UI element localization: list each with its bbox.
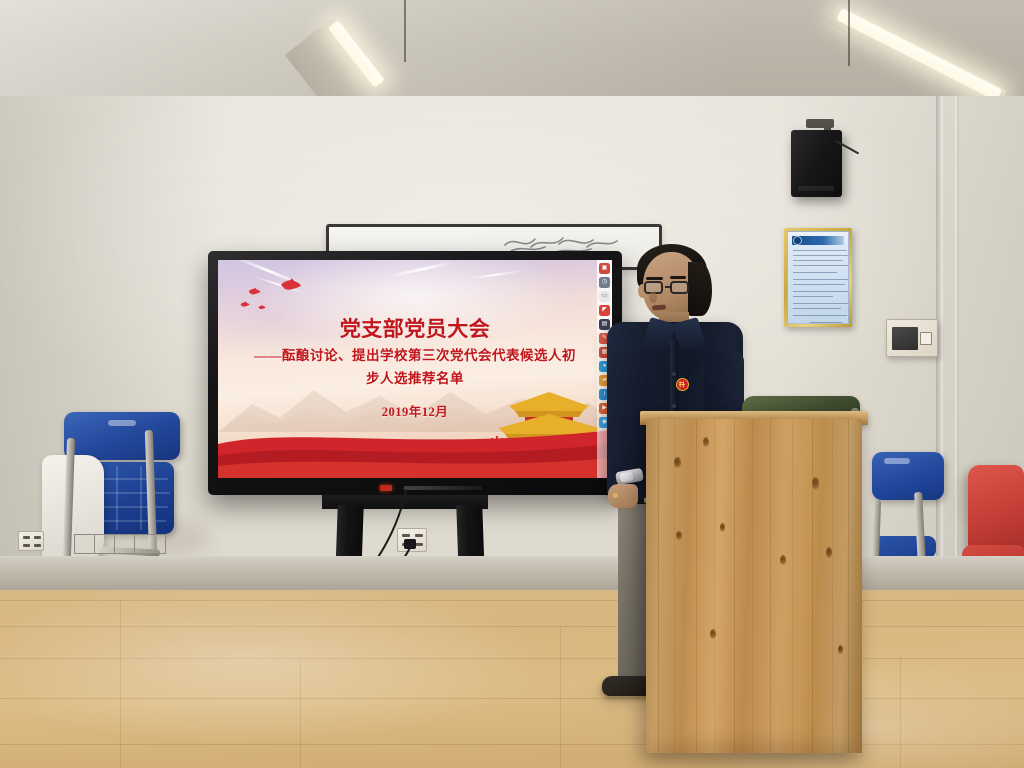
wall-baseboard: [0, 556, 1024, 594]
wall-notice-board: [784, 228, 852, 327]
presenter-eyebrow: [670, 276, 686, 279]
breaker-switch[interactable]: [920, 332, 932, 345]
slide-subtitle-line1: ——酝酿讨论、提出学校第三次党代会代表候选人初: [218, 344, 612, 364]
party-emblem-pin-icon: [676, 378, 689, 391]
camera-icon[interactable]: ▣: [599, 263, 610, 274]
slide-dove-icon: [258, 304, 266, 310]
presenter-nose: [649, 292, 657, 303]
breaker-window: [892, 327, 918, 350]
slide-title: 党支部党员大会: [218, 313, 612, 343]
shirt-button: [672, 404, 676, 408]
presenter-mouth: [652, 305, 666, 311]
glasses-lens-right: [670, 281, 689, 294]
interactive-flat-panel-display[interactable]: 党支部党员大会 ——酝酿讨论、提出学校第三次党代会代表候选人初 步人选推荐名单 …: [208, 251, 622, 495]
wall-power-outlet-low[interactable]: [18, 531, 44, 551]
slide-red-ribbon: [218, 422, 612, 478]
notice-board-panel: [787, 231, 849, 324]
floor-reflection: [0, 590, 1024, 768]
wooden-podium: [646, 419, 862, 753]
clock-icon[interactable]: ◷: [599, 277, 610, 288]
slide-dove-icon: [280, 276, 302, 292]
speaker-grille: [798, 186, 834, 191]
shirt-button: [672, 372, 676, 376]
ceiling-hang-wire-right: [848, 0, 850, 66]
flag-icon[interactable]: ◤: [599, 305, 610, 316]
podium-floor-shadow: [640, 742, 870, 764]
blue-folding-chair-right-seat[interactable]: [874, 536, 936, 558]
wall-corner-seam-secondary: [955, 96, 959, 594]
slide-dove-icon: [248, 286, 261, 296]
ceiling-shading: [0, 0, 1024, 108]
presenter-hair-side: [688, 262, 712, 316]
note-icon[interactable]: ▭: [599, 291, 610, 302]
room-photo-scene: 党支部党员大会 ——酝酿讨论、提出学校第三次党代会代表候选人初 步人选推荐名单 …: [0, 0, 1024, 768]
glasses-bridge: [665, 286, 672, 288]
chair-handle-slot: [884, 458, 910, 464]
slide-dove-icon: [240, 300, 250, 308]
notice-board-seal-icon: [793, 236, 802, 245]
presenter-eyebrow: [646, 277, 663, 280]
book-icon[interactable]: ▤: [599, 319, 610, 330]
electrical-breaker-box[interactable]: [886, 319, 938, 357]
watch-face: [619, 471, 633, 482]
presenter-ring: [613, 493, 618, 498]
podium-shading: [646, 419, 862, 753]
chair-handle-slot: [108, 420, 136, 426]
ceiling-hang-wire-left: [404, 0, 406, 62]
display-screen[interactable]: 党支部党员大会 ——酝酿讨论、提出学校第三次党代会代表候选人初 步人选推荐名单 …: [218, 260, 612, 478]
chair-under-basket: [74, 534, 166, 554]
